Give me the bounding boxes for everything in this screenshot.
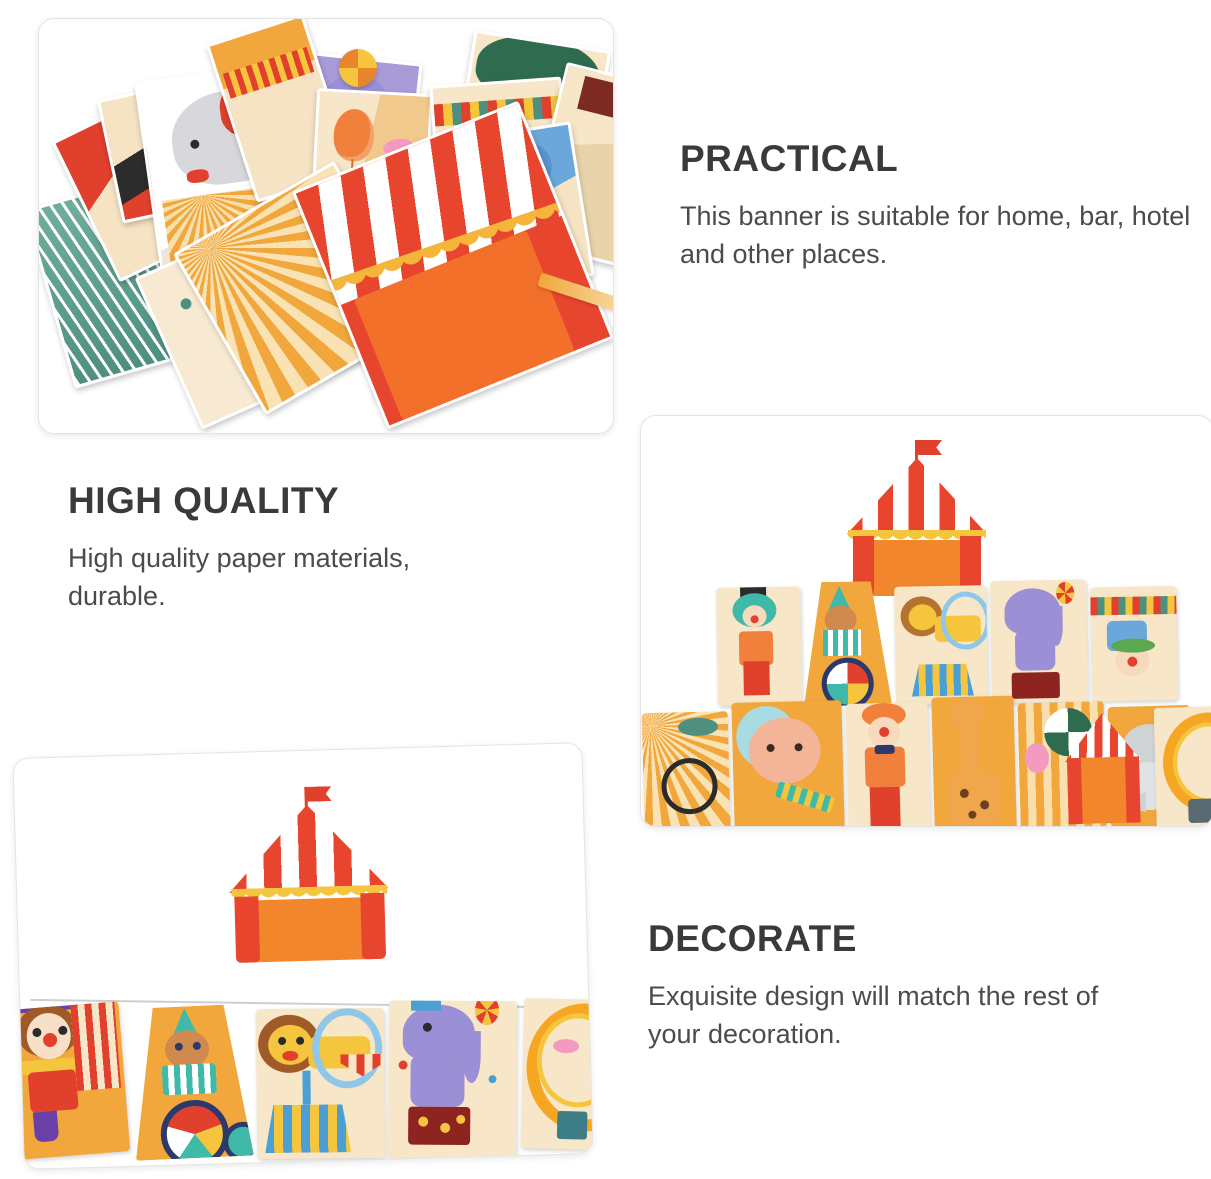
circus-tent-icon-2 (226, 785, 391, 955)
panel-hanging-banner (12, 742, 593, 1170)
practical-heading: PRACTICAL (680, 140, 1200, 177)
hanging-letter-P2 (388, 1000, 517, 1159)
letter-card-P2 (990, 579, 1088, 703)
letter-card-Y1 (1090, 586, 1178, 701)
feature-high-quality: HIGH QUALITY High quality paper material… (68, 482, 498, 616)
letter-card-R (845, 702, 930, 827)
decorate-heading: DECORATE (648, 920, 1118, 957)
letter-card-Y2 (1154, 706, 1211, 827)
circus-tent-icon (847, 440, 987, 592)
practical-body: This banner is suitable for home, bar, h… (680, 197, 1200, 274)
letter-card-T (931, 696, 1016, 827)
letter-card-A2 (1056, 712, 1151, 827)
high-quality-body: High quality paper materials, durable. (68, 539, 498, 616)
panel-scattered-cards (38, 18, 614, 434)
beach-ball (339, 49, 377, 87)
scattered-card-pile (39, 19, 613, 433)
feature-practical: PRACTICAL This banner is suitable for ho… (680, 140, 1200, 274)
letter-card-H (716, 586, 802, 705)
hanging-letters (12, 932, 593, 1169)
hanging-letter-A (129, 1004, 254, 1161)
feature-decorate: DECORATE Exquisite design will match the… (648, 920, 1118, 1054)
letter-card-I (731, 700, 844, 827)
banner-row-birthday (641, 685, 1204, 827)
letter-card-B (642, 711, 731, 827)
high-quality-heading: HIGH QUALITY (68, 482, 498, 519)
hanging-letter-P1 (256, 1008, 386, 1159)
letter-card-P1 (894, 585, 988, 705)
hanging-letter-Y (521, 998, 594, 1151)
panel-assembled-banner (640, 415, 1211, 827)
hanging-letter-H (12, 1001, 130, 1159)
letter-card-A1 (802, 581, 892, 707)
decorate-body: Exquisite design will match the rest of … (648, 977, 1118, 1054)
